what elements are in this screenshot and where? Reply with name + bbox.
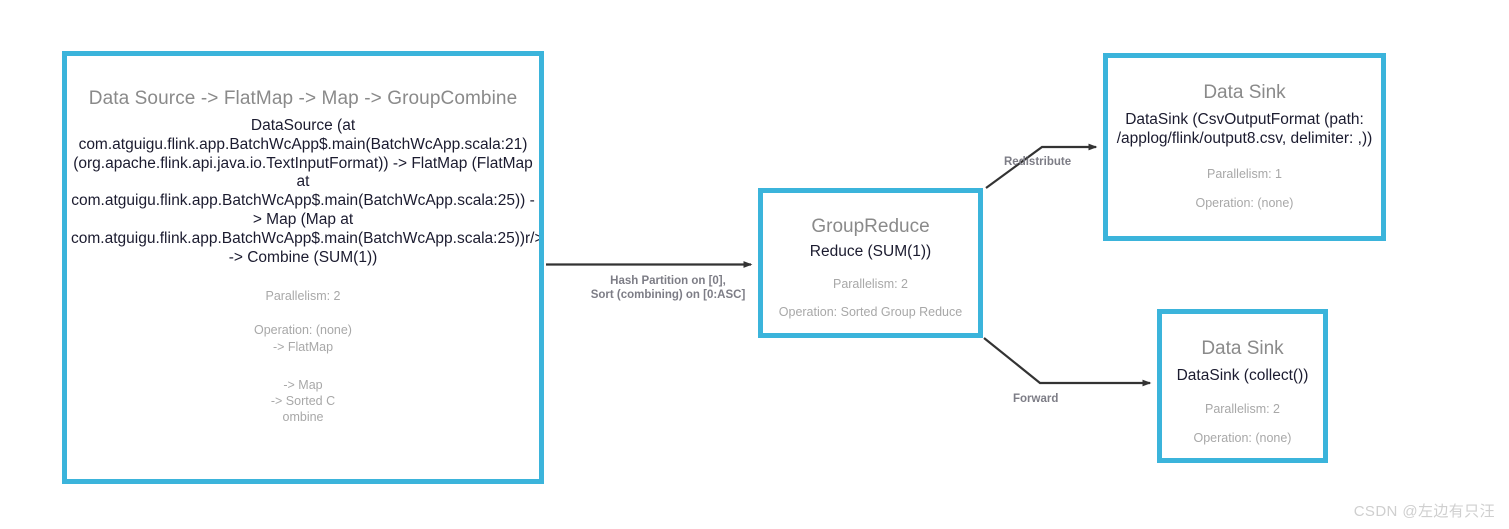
execution-plan-canvas: Hash Partition on [0], Sort (combining) …	[0, 0, 1509, 529]
node-group-reduce-body: Reduce (SUM(1))	[763, 243, 978, 262]
node-data-sink-collect-body: DataSink (collect())	[1162, 367, 1323, 386]
edge-groupreduce-to-sink-collect	[984, 338, 1150, 383]
node-data-sink-collect-operation: Operation: (none)	[1162, 430, 1323, 446]
node-data-sink-csv-operation: Operation: (none)	[1108, 195, 1381, 211]
node-data-source-chain[interactable]: Data Source -> FlatMap -> Map -> GroupCo…	[62, 51, 544, 484]
watermark: CSDN @左边有只汪	[1354, 500, 1495, 521]
node-data-sink-csv-title: Data Sink	[1108, 81, 1381, 105]
node-data-sink-csv[interactable]: Data Sink DataSink (CsvOutputFormat (pat…	[1103, 53, 1386, 241]
node-group-reduce[interactable]: GroupReduce Reduce (SUM(1)) Parallelism:…	[758, 188, 983, 338]
node-data-sink-collect-title: Data Sink	[1162, 337, 1323, 361]
node-group-reduce-title: GroupReduce	[763, 215, 978, 239]
node-data-source-chain-operation: Operation: (none) -> FlatMap	[67, 322, 539, 355]
node-data-source-chain-parallelism: Parallelism: 2	[67, 288, 539, 304]
edge-label-forward: Forward	[1013, 392, 1093, 406]
node-data-sink-csv-parallelism: Parallelism: 1	[1108, 166, 1381, 182]
node-data-source-chain-body: DataSource (at com.atguigu.flink.app.Bat…	[67, 117, 539, 268]
node-group-reduce-operation: Operation: Sorted Group Reduce	[763, 304, 978, 320]
node-data-source-chain-operation-tail: -> Map -> Sorted C ombine	[67, 377, 539, 426]
node-data-sink-collect-parallelism: Parallelism: 2	[1162, 401, 1323, 417]
node-data-source-chain-title: Data Source -> FlatMap -> Map -> GroupCo…	[67, 87, 539, 111]
edge-label-hash-partition: Hash Partition on [0], Sort (combining) …	[584, 274, 752, 302]
node-data-sink-csv-body: DataSink (CsvOutputFormat (path: /applog…	[1108, 111, 1381, 149]
edge-label-redistribute: Redistribute	[1004, 155, 1096, 169]
node-group-reduce-parallelism: Parallelism: 2	[763, 276, 978, 292]
node-data-sink-collect[interactable]: Data Sink DataSink (collect()) Paralleli…	[1157, 309, 1328, 463]
